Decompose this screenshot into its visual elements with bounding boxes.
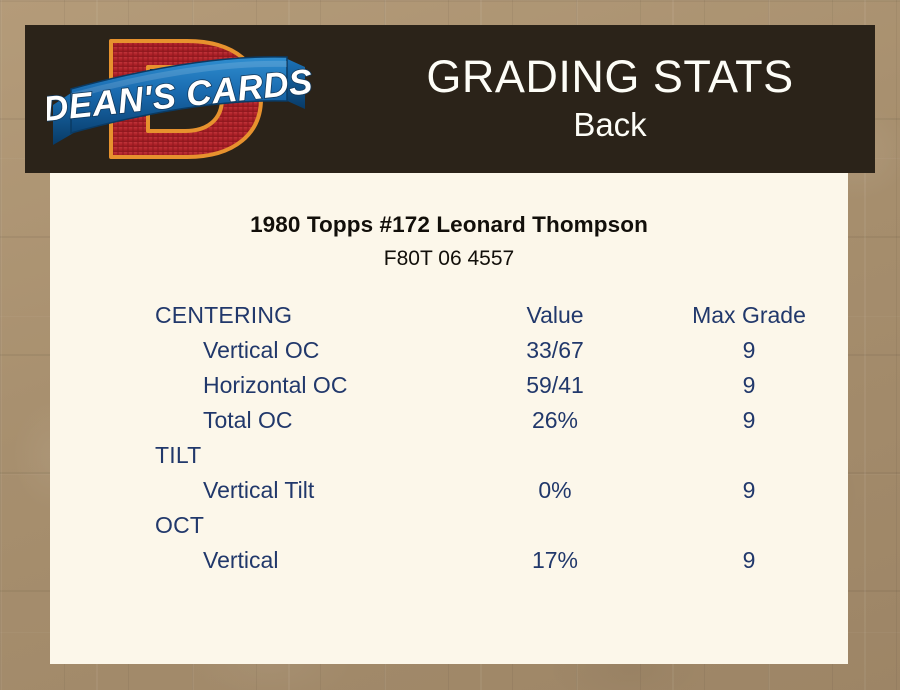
section-spacer-grade: [650, 512, 848, 547]
row-label: Horizontal OC: [50, 372, 460, 407]
row-max-grade: 9: [650, 372, 848, 407]
row-max-grade: 9: [650, 407, 848, 442]
section-spacer-grade: [650, 442, 848, 477]
grading-stats-table: CENTERING Value Max Grade Vertical OC 33…: [50, 302, 848, 582]
header-bar: DEAN'S CARDS GRADING STATS Back: [25, 25, 875, 173]
row-max-grade: 9: [650, 477, 848, 512]
row-max-grade: 9: [650, 337, 848, 372]
row-label: Total OC: [50, 407, 460, 442]
section-header-row: OCT: [50, 512, 848, 547]
table-row: Vertical 17% 9: [50, 547, 848, 582]
table-row: Vertical Tilt 0% 9: [50, 477, 848, 512]
section-header-row: TILT: [50, 442, 848, 477]
row-value: 17%: [460, 547, 650, 582]
table-row: Horizontal OC 59/41 9: [50, 372, 848, 407]
card-title: 1980 Topps #172 Leonard Thompson: [50, 212, 848, 238]
row-label: Vertical Tilt: [50, 477, 460, 512]
row-label: Vertical OC: [50, 337, 460, 372]
stats-panel: 1980 Topps #172 Leonard Thompson F80T 06…: [50, 173, 848, 664]
card-serial-number: F80T 06 4557: [50, 247, 848, 271]
header-title-block: GRADING STATS Back: [325, 25, 875, 173]
table-row: Total OC 26% 9: [50, 407, 848, 442]
page-title: GRADING STATS: [426, 53, 793, 100]
section-spacer-value: [460, 512, 650, 547]
row-value: 59/41: [460, 372, 650, 407]
section-header-oct: OCT: [50, 512, 460, 547]
section-header-centering: CENTERING: [50, 302, 460, 337]
section-header-tilt: TILT: [50, 442, 460, 477]
section-spacer-value: [460, 442, 650, 477]
row-max-grade: 9: [650, 547, 848, 582]
row-label: Vertical: [50, 547, 460, 582]
column-header-max-grade: Max Grade: [650, 302, 848, 337]
deans-cards-logo: DEAN'S CARDS: [47, 27, 312, 171]
row-value: 0%: [460, 477, 650, 512]
table-header-row: CENTERING Value Max Grade: [50, 302, 848, 337]
row-value: 33/67: [460, 337, 650, 372]
column-header-value: Value: [460, 302, 650, 337]
row-value: 26%: [460, 407, 650, 442]
table-row: Vertical OC 33/67 9: [50, 337, 848, 372]
page-subtitle: Back: [573, 104, 646, 145]
